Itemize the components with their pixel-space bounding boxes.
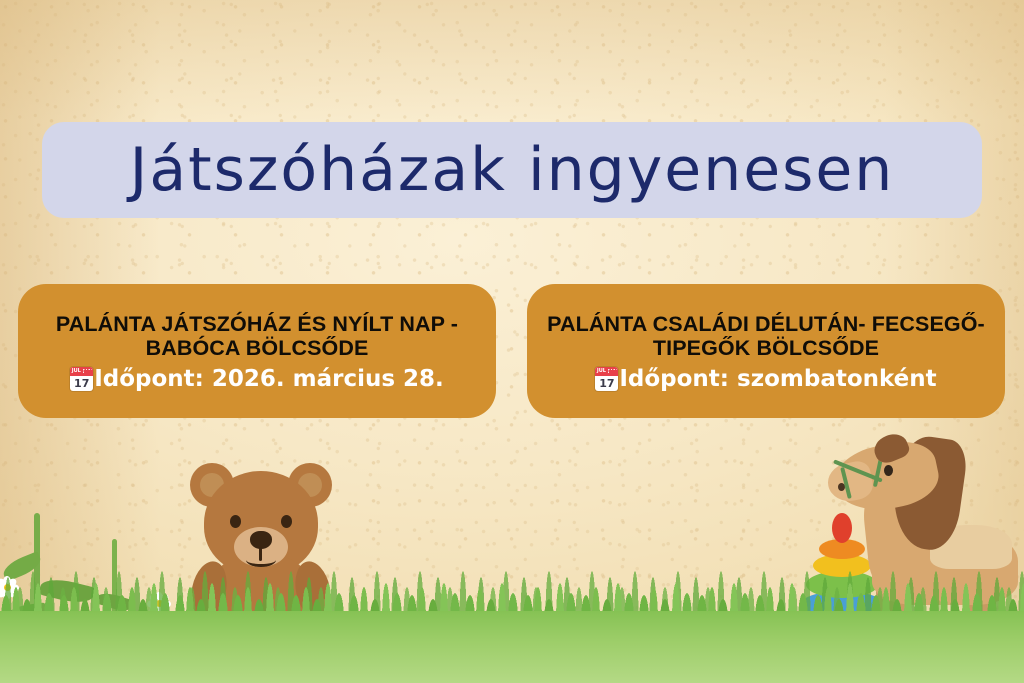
event-date-row-right: JUL 17 Időpont: szombatonként xyxy=(595,367,936,392)
event-card-right[interactable]: PALÁNTA CSALÁDI DÉLUTÁN- FECSEGŐ-TIPEGŐK… xyxy=(527,284,1005,418)
poster-canvas: Játszóházak ingyenesen PALÁNTA JÁTSZÓHÁZ… xyxy=(0,0,1024,683)
event-title-right: PALÁNTA CSALÁDI DÉLUTÁN- FECSEGŐ-TIPEGŐK… xyxy=(545,312,987,361)
calendar-icon-day: 17 xyxy=(70,376,93,391)
event-date-right: Időpont: szombatonként xyxy=(619,367,936,392)
page-title: Játszóházak ingyenesen xyxy=(130,140,895,200)
calendar-icon-month: JUL xyxy=(597,367,606,376)
calendar-icon: JUL 17 xyxy=(70,367,93,391)
title-banner: Játszóházak ingyenesen xyxy=(42,122,982,218)
grass-ground xyxy=(0,611,1024,683)
event-date-row-left: JUL 17 Időpont: 2026. március 28. xyxy=(70,367,444,392)
illustration-scene xyxy=(0,423,1024,683)
event-title-left: PALÁNTA JÁTSZÓHÁZ ÉS NYÍLT NAP - BABÓCA … xyxy=(36,312,478,361)
calendar-icon-month: JUL xyxy=(72,367,81,376)
event-card-left[interactable]: PALÁNTA JÁTSZÓHÁZ ÉS NYÍLT NAP - BABÓCA … xyxy=(18,284,496,418)
event-date-left: Időpont: 2026. március 28. xyxy=(94,367,444,392)
calendar-icon: JUL 17 xyxy=(595,367,618,391)
calendar-icon-day: 17 xyxy=(595,376,618,391)
